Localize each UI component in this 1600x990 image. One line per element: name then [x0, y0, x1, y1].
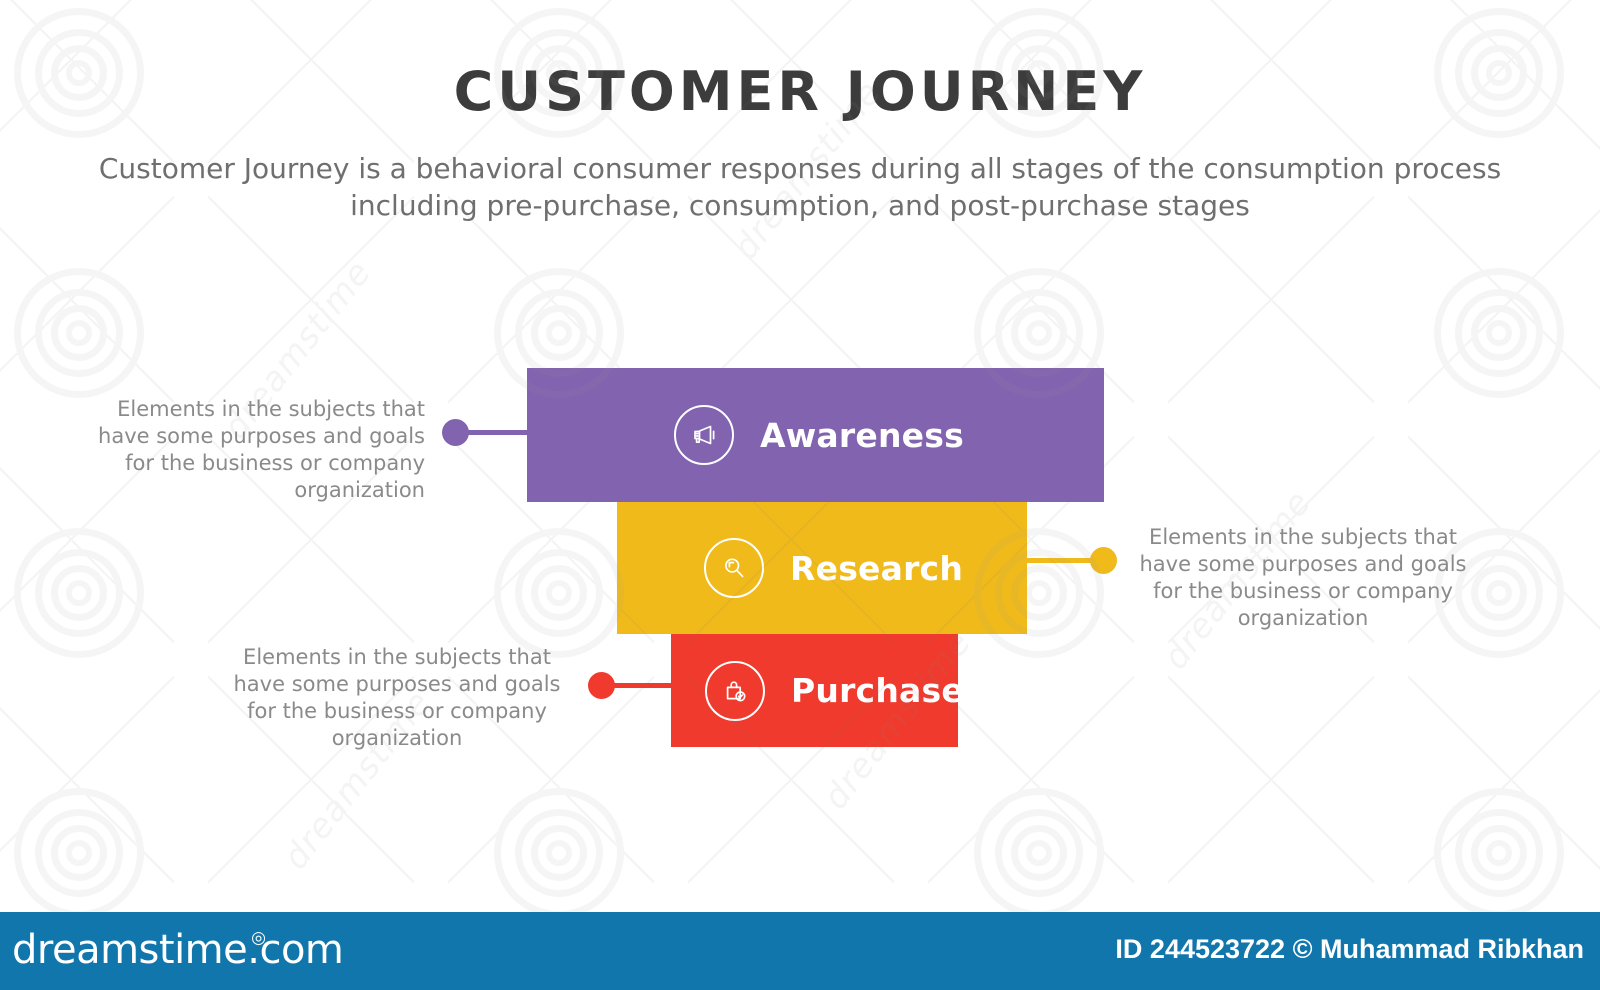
funnel-stage-label: Awareness	[760, 416, 964, 455]
funnel-stage-purchase[interactable]: Purchase	[671, 634, 958, 747]
page-subtitle: Customer Journey is a behavioral consume…	[60, 150, 1540, 224]
dreamstime-logo[interactable]: ◎ dreamstime.com	[12, 926, 343, 974]
registered-mark-icon: ◎	[251, 914, 265, 962]
footer-bar: ◎ dreamstime.com ID 244523722 © Muhammad…	[0, 912, 1600, 990]
funnel-stage-research[interactable]: Research	[617, 502, 1027, 634]
funnel-stage-awareness[interactable]: Awareness	[527, 368, 1104, 502]
megaphone-icon	[674, 405, 734, 465]
funnel-stage-label: Research	[790, 549, 963, 588]
subtitle-line-2: including pre-purchase, consumption, and…	[60, 187, 1540, 224]
shopping-bag-check-icon	[705, 661, 765, 721]
magnifier-icon	[704, 538, 764, 598]
page-title: CUSTOMER JOURNEY	[0, 60, 1600, 124]
dreamstime-logo-text: dreamstime.com	[12, 927, 343, 973]
subtitle-line-1: Customer Journey is a behavioral consume…	[60, 150, 1540, 187]
infographic-canvas: dreamstime dreamstime dreamstime dreamst…	[0, 0, 1600, 990]
connector-dot-purchase	[588, 672, 615, 699]
funnel-stage-label: Purchase	[791, 671, 964, 710]
stage-description-purchase: Elements in the subjects that have some …	[232, 644, 562, 752]
connector-dot-research	[1090, 547, 1117, 574]
connector-dot-awareness	[442, 419, 469, 446]
stage-description-awareness: Elements in the subjects that have some …	[75, 396, 425, 504]
image-id-credit: ID 244523722 © Muhammad Ribkhan	[1115, 934, 1584, 965]
stage-description-research: Elements in the subjects that have some …	[1132, 524, 1474, 632]
